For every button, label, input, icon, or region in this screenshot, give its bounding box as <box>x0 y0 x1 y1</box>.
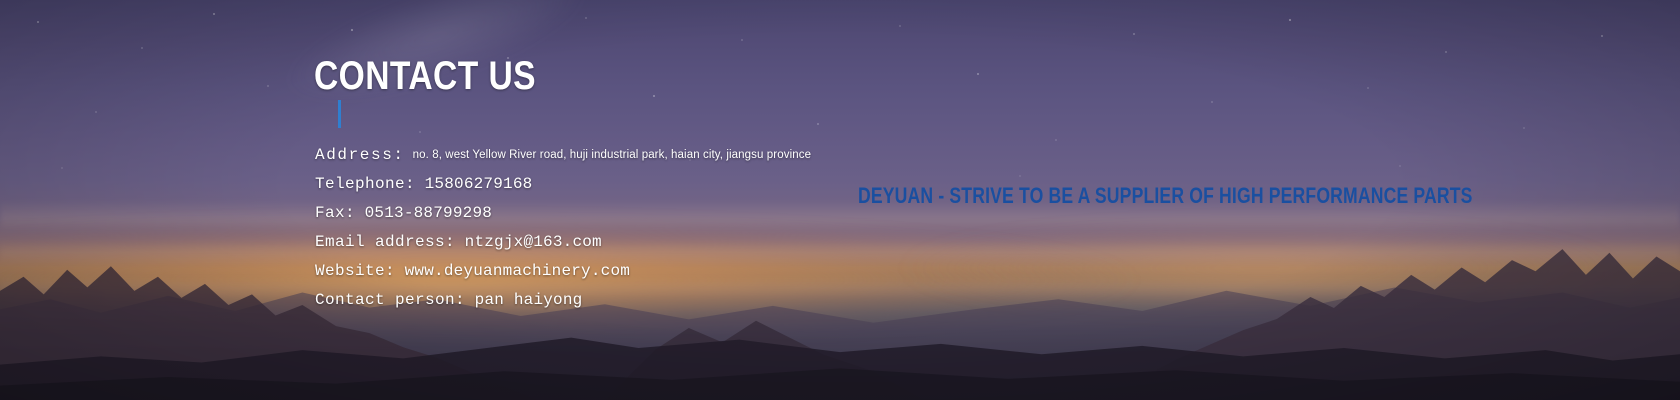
title-accent-bar <box>338 100 341 128</box>
banner-content: CONTACT US Address:no. 8, west Yellow Ri… <box>0 0 1680 400</box>
contact-value-email[interactable]: ntzgjx@163.com <box>465 233 602 251</box>
contact-label-address: Address: <box>315 146 405 164</box>
contact-value-person: pan haiyong <box>475 291 583 309</box>
company-tagline: DEYUAN - STRIVE TO BE A SUPPLIER OF HIGH… <box>858 184 1473 208</box>
contact-label-telephone: Telephone: <box>315 175 415 193</box>
contact-label-person: Contact person: <box>315 291 465 309</box>
contact-row-website: Website: www.deyuanmachinery.com <box>315 257 811 286</box>
contact-banner: CONTACT US Address:no. 8, west Yellow Ri… <box>0 0 1680 400</box>
contact-value-address: no. 8, west Yellow River road, huji indu… <box>413 149 811 161</box>
contact-row-telephone: Telephone: 15806279168 <box>315 170 811 199</box>
contact-row-fax: Fax: 0513-88799298 <box>315 199 811 228</box>
contact-row-email: Email address: ntzgjx@163.com <box>315 228 811 257</box>
page-title: CONTACT US <box>314 56 536 96</box>
contact-row-address: Address:no. 8, west Yellow River road, h… <box>315 141 811 170</box>
contact-label-email: Email address: <box>315 233 455 251</box>
contact-label-website: Website: <box>315 262 395 280</box>
contact-details-list: Address:no. 8, west Yellow River road, h… <box>315 141 811 315</box>
contact-value-telephone[interactable]: 15806279168 <box>425 175 533 193</box>
contact-value-website[interactable]: www.deyuanmachinery.com <box>405 262 630 280</box>
contact-value-fax: 0513-88799298 <box>365 204 492 222</box>
contact-row-person: Contact person: pan haiyong <box>315 286 811 315</box>
contact-label-fax: Fax: <box>315 204 355 222</box>
